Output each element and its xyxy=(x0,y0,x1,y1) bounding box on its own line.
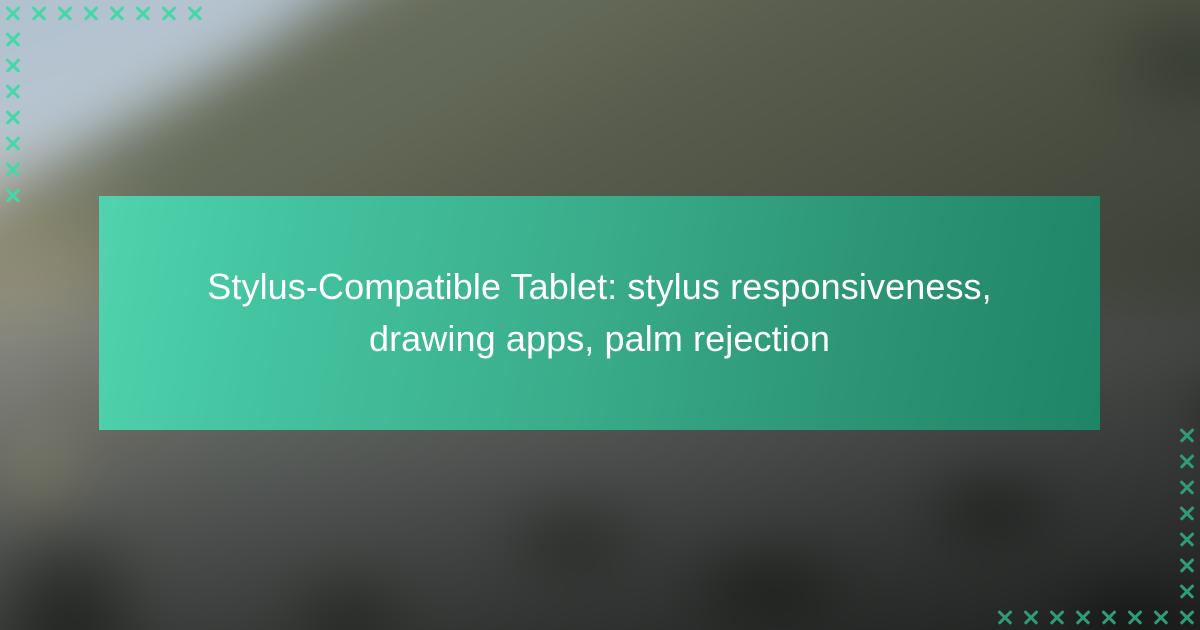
page-title: Stylus-Compatible Tablet: stylus respons… xyxy=(200,261,1000,365)
title-banner: Stylus-Compatible Tablet: stylus respons… xyxy=(99,196,1100,430)
share-card: Stylus-Compatible Tablet: stylus respons… xyxy=(0,0,1200,630)
